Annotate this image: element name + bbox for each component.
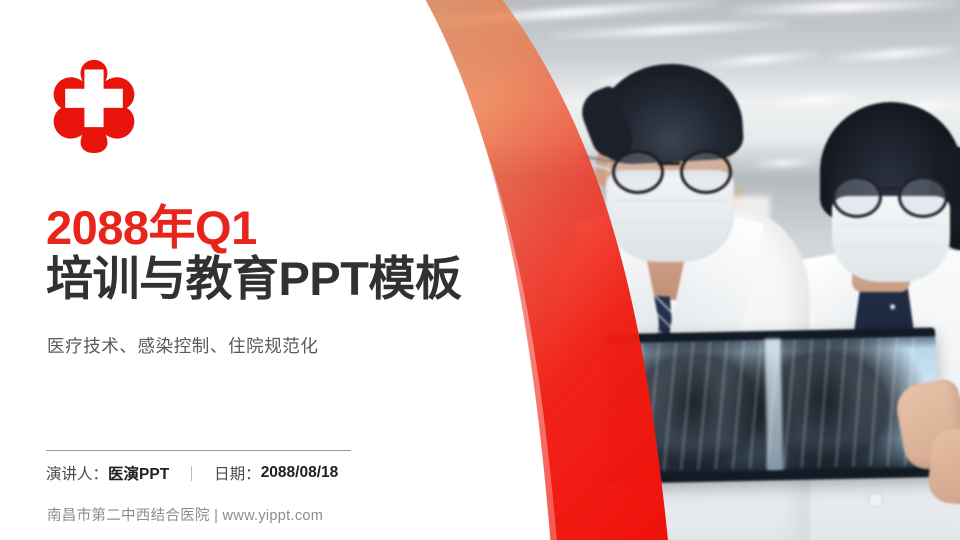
page-title: 2088年Q1 培训与教育PPT模板 xyxy=(46,203,516,305)
glasses-lens-right xyxy=(898,176,948,218)
chest-xray-film xyxy=(608,327,941,484)
date-value: 2088/08/18 xyxy=(261,464,339,482)
title-main: 培训与教育PPT模板 xyxy=(46,253,516,306)
date-label: 日期： xyxy=(214,462,261,484)
xray-ribs xyxy=(624,338,925,472)
red-medical-cross-logo-icon xyxy=(46,58,142,154)
meta-separator xyxy=(191,466,192,481)
glasses-lens-right xyxy=(680,150,732,194)
title-year: 2088年Q1 xyxy=(46,203,516,253)
presenter-date-row: 演讲人： 医演PPT 日期： 2088/08/18 xyxy=(46,462,338,484)
footer-credit: 南昌市第二中西结合医院 | www.yippt.com xyxy=(47,504,323,525)
coat-button xyxy=(868,492,883,507)
glasses-bridge xyxy=(658,162,680,165)
presentation-slide: 2088年Q1 培训与教育PPT模板 医疗技术、感染控制、住院规范化 演讲人： … xyxy=(0,0,960,540)
divider xyxy=(46,450,351,451)
glasses-lens-left xyxy=(832,176,882,218)
presenter-label: 演讲人： xyxy=(46,462,108,484)
female-doctor-glasses-icon xyxy=(830,176,950,214)
subtitle: 医疗技术、感染控制、住院规范化 xyxy=(47,333,319,358)
male-doctor-glasses-icon xyxy=(608,150,734,190)
glasses-bridge xyxy=(876,187,898,190)
presenter-value: 医演PPT xyxy=(108,462,169,484)
glasses-lens-left xyxy=(612,150,664,194)
title-panel: 2088年Q1 培训与教育PPT模板 医疗技术、感染控制、住院规范化 演讲人： … xyxy=(0,0,420,540)
